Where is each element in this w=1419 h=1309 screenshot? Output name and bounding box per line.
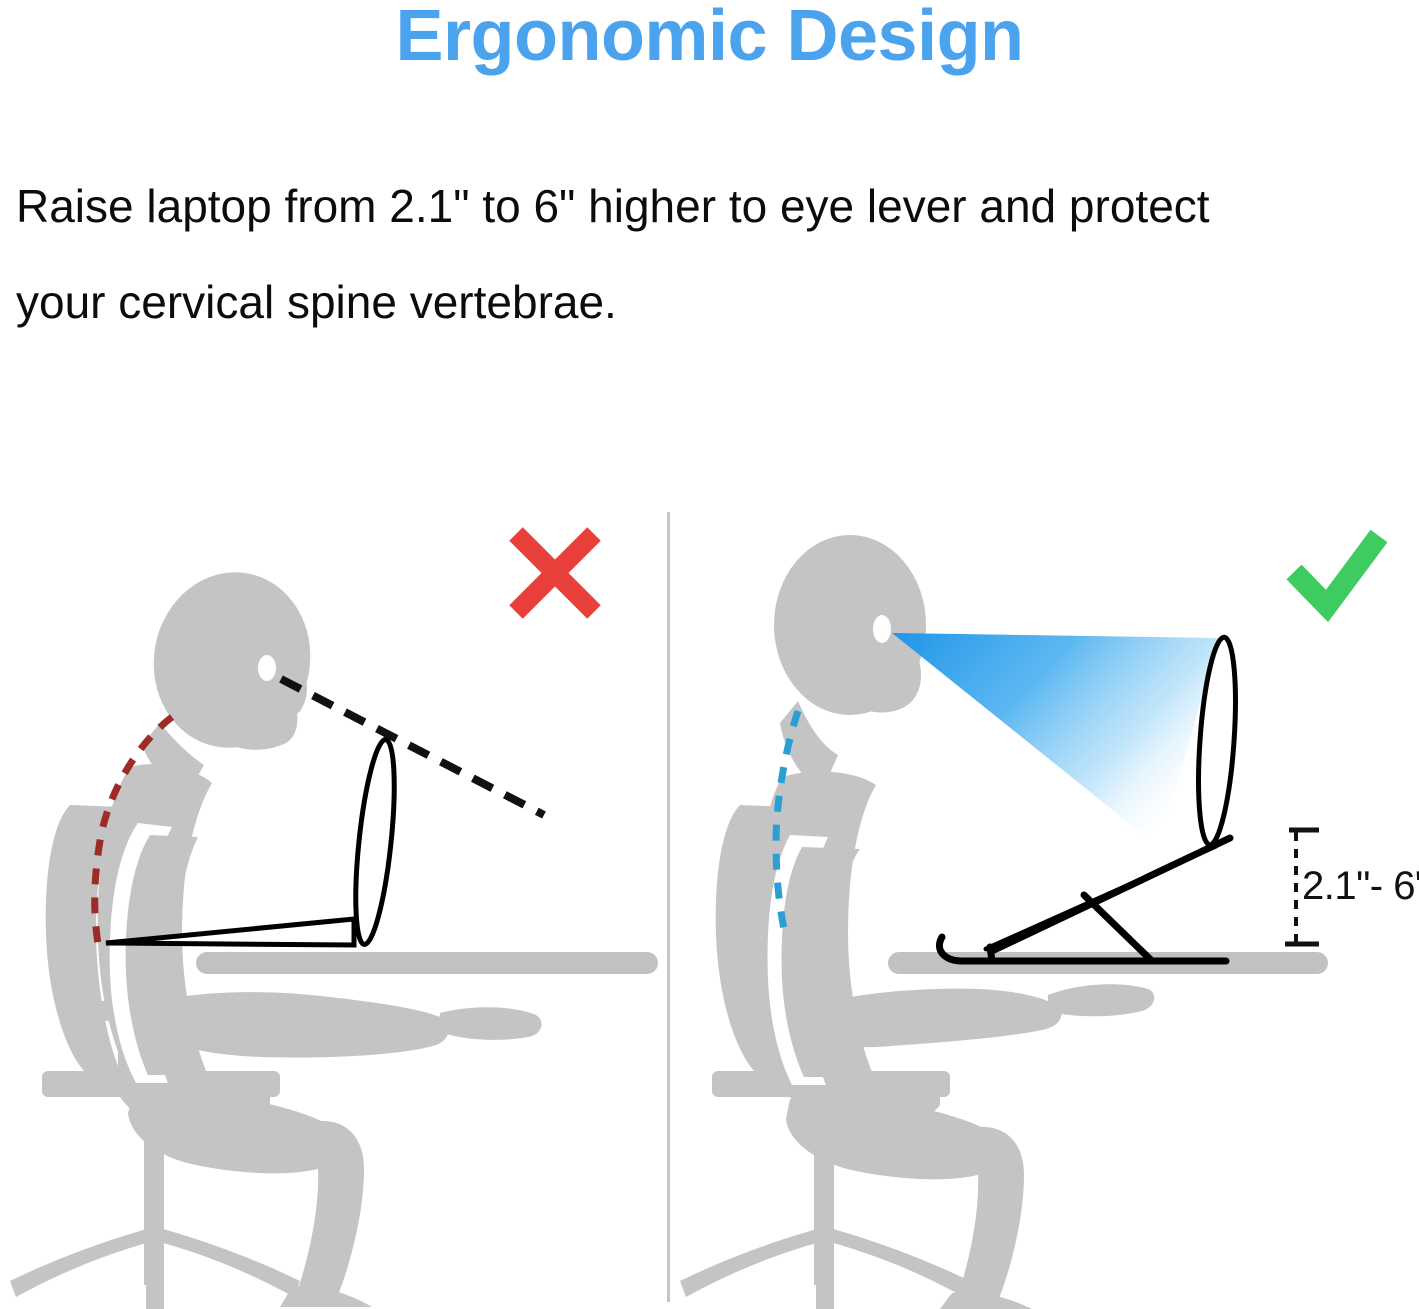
infographic-page: Ergonomic Design Raise laptop from 2.1" … bbox=[0, 0, 1419, 1309]
dimension-label: 2.1"- 6" bbox=[1302, 864, 1419, 909]
vision-cone bbox=[892, 633, 1218, 848]
green-check-icon bbox=[1280, 520, 1390, 630]
red-cross-icon bbox=[500, 518, 610, 628]
subtitle-line-1: Raise laptop from 2.1" to 6" higher to e… bbox=[16, 158, 1406, 254]
page-title: Ergonomic Design bbox=[0, 0, 1419, 72]
subtitle-line-2: your cervical spine vertebrae. bbox=[16, 254, 1406, 350]
eye-good bbox=[873, 615, 891, 643]
sight-line-bad bbox=[281, 679, 544, 815]
subtitle-block: Raise laptop from 2.1" to 6" higher to e… bbox=[16, 158, 1406, 350]
desk-bad bbox=[196, 952, 658, 974]
eye-bad bbox=[258, 655, 276, 681]
